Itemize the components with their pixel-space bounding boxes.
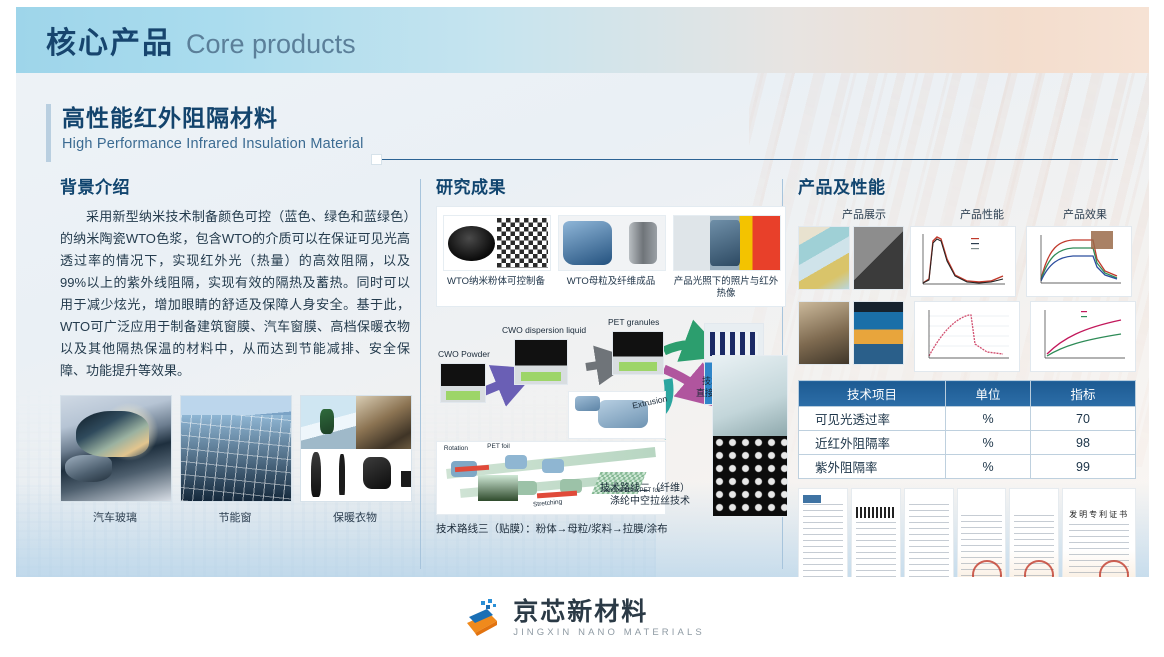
section-divider-rule — [378, 159, 1118, 160]
flow-photo-dispersion — [514, 339, 568, 385]
table-cell: 近红外阻隔率 — [799, 431, 946, 455]
header-title-group: 核心产品 Core products — [46, 18, 356, 62]
certificate-barcode-report — [851, 488, 901, 577]
product-photo-lab — [798, 301, 850, 365]
specification-table: 技术项目 单位 指标 可见光透过率 % 70 近红外阻隔率 % 98 — [798, 380, 1136, 479]
warm-clothing-photo — [300, 395, 412, 502]
energy-window-photo — [180, 395, 292, 502]
section-title-group: 高性能红外阻隔材料 High Performance Infrared Insu… — [46, 99, 364, 152]
table-cell: 70 — [1031, 407, 1136, 431]
slide-root: 核心产品 Core products 高性能红外阻隔材料 High Perfor… — [0, 0, 1164, 657]
section-accent-bar — [46, 104, 51, 162]
table-cell: 可见光透过率 — [799, 407, 946, 431]
table-header-cell: 单位 — [946, 381, 1031, 407]
table-row: 近红外阻隔率 % 98 — [799, 431, 1136, 455]
table-header-cell: 技术项目 — [799, 381, 946, 407]
head-product-display: 产品展示 — [798, 206, 930, 222]
background-paragraph: 采用新型纳米技术制备颜色可控（蓝色、绿色和蓝绿色）的纳米陶瓷WTO色浆，包含WT… — [60, 206, 410, 382]
product-photo-grid — [798, 226, 904, 372]
certificate-test-report — [798, 488, 848, 577]
certificate-patent-1 — [957, 488, 1007, 577]
middle-column-title: 研究成果 — [436, 173, 786, 198]
table-cell: % — [946, 431, 1031, 455]
certificates-row: 发明专利证书 — [798, 488, 1136, 577]
brand-name-en: JINGXIN NANO MATERIALS — [513, 627, 705, 638]
certificate-patent-2 — [1009, 488, 1059, 577]
brand-name-cn: 京芯新材料 — [513, 599, 705, 625]
thumbnail-caption: 节能窗 — [180, 509, 290, 525]
research-item-thermal: 产品光照下的照片与红外热像 — [673, 215, 779, 300]
certificate-title: 发明专利证书 — [1063, 509, 1135, 520]
section-title-cn: 高性能红外阻隔材料 — [62, 99, 364, 133]
header-title-cn: 核心产品 — [46, 18, 174, 62]
right-column-title: 产品及性能 — [798, 173, 1136, 198]
research-column: 研究成果 WTO纳米粉体可控制备 WTO母粒及纤维成品 产品光照下的照片与红外热… — [436, 173, 786, 536]
flow-label-powder: CWO Powder — [438, 349, 490, 359]
powder-photo — [443, 215, 551, 271]
brand-logo-icon — [459, 599, 503, 637]
head-product-effect: 产品效果 — [1034, 206, 1136, 222]
table-cell: 99 — [1031, 455, 1136, 479]
route-two-label: 技术路线二（纤维） 涤纶中空拉丝技术 — [600, 482, 690, 508]
left-column-title: 背景介绍 — [60, 173, 410, 198]
research-caption: WTO纳米粉体可控制备 — [443, 276, 549, 288]
masterbatch-photo — [558, 215, 666, 271]
thumbnail-caption: 汽车玻璃 — [60, 509, 170, 525]
flow-label-granules: PET granules — [608, 317, 659, 327]
product-media-grid — [798, 226, 1136, 372]
section-divider-cap — [371, 154, 382, 165]
column-background: 背景介绍 采用新型纳米技术制备颜色可控（蓝色、绿色和蓝绿色）的纳米陶瓷WTO色浆… — [60, 173, 410, 382]
certificate-notice — [904, 488, 954, 577]
table-cell: 紫外阻隔率 — [799, 455, 946, 479]
header-title-en: Core products — [186, 29, 356, 60]
thumbnail-car-glass: 汽车玻璃 — [60, 395, 170, 525]
research-item-powder: WTO纳米粉体可控制备 — [443, 215, 549, 300]
thumbnail-energy-window: 节能窗 — [180, 395, 290, 525]
table-header-row: 技术项目 单位 指标 — [799, 381, 1136, 407]
product-photo-films — [798, 226, 850, 290]
table-header-cell: 指标 — [1031, 381, 1136, 407]
head-product-performance: 产品性能 — [930, 206, 1034, 222]
product-column: 产品及性能 产品展示 产品性能 产品效果 — [798, 173, 1136, 577]
research-results-card: WTO纳米粉体可控制备 WTO母粒及纤维成品 产品光照下的照片与红外热像 — [436, 206, 786, 307]
brand-text-group: 京芯新材料 JINGXIN NANO MATERIALS — [513, 599, 705, 638]
table-cell: % — [946, 455, 1031, 479]
flow-label-stretching: Stretching — [532, 498, 562, 508]
chart-temperature-curve — [914, 301, 1020, 372]
performance-charts — [910, 226, 1020, 372]
slide-header: 核心产品 Core products — [16, 7, 1149, 73]
research-caption: 产品光照下的照片与红外热像 — [673, 276, 779, 300]
certificate-patent-3: 发明专利证书 — [1062, 488, 1136, 577]
chart-insulation-time — [1030, 301, 1136, 372]
table-cell: 98 — [1031, 431, 1136, 455]
product-photo-thermal-monitor — [853, 301, 905, 365]
flow-label-rotation: Rotation — [444, 445, 468, 452]
effect-charts — [1026, 226, 1136, 372]
table-cell: % — [946, 407, 1031, 431]
flow-label-dispersion: CWO dispersion liquid — [502, 325, 586, 335]
flow-label-pet-foil: PET foil — [487, 443, 510, 450]
research-caption: WTO母粒及纤维成品 — [558, 276, 664, 288]
thumbnail-caption: 保暖衣物 — [300, 509, 410, 525]
thumbnail-warm-clothing: 保暖衣物 — [300, 395, 410, 525]
car-glass-photo — [60, 395, 172, 502]
route-three-label: 技术路线三（贴膜）：粉体→母粒/浆料→拉膜/涂布 — [436, 521, 786, 536]
slide-footer: 京芯新材料 JINGXIN NANO MATERIALS — [0, 579, 1164, 657]
product-photo-packages — [853, 226, 905, 290]
slide-frame: 核心产品 Core products 高性能红外阻隔材料 High Perfor… — [16, 7, 1149, 577]
research-results-row: WTO纳米粉体可控制备 WTO母粒及纤维成品 产品光照下的照片与红外热像 — [443, 215, 779, 300]
chart-heating-comparison — [1026, 226, 1132, 297]
section-title-en: High Performance Infrared Insulation Mat… — [62, 136, 364, 152]
flow-photo-granules — [612, 331, 664, 375]
flow-photo-powder — [440, 363, 486, 403]
application-thumbnail-row: 汽车玻璃 节能窗 保暖衣物 — [60, 395, 410, 525]
research-item-masterbatch: WTO母粒及纤维成品 — [558, 215, 664, 300]
fiber-product-photo — [712, 355, 788, 517]
table-row: 可见光透过率 % 70 — [799, 407, 1136, 431]
chart-transmittance-spectrum — [910, 226, 1016, 297]
thermal-image-photo — [673, 215, 781, 271]
product-column-heads: 产品展示 产品性能 产品效果 — [798, 206, 1136, 222]
table-row: 紫外阻隔率 % 99 — [799, 455, 1136, 479]
column-divider-left — [420, 179, 421, 569]
